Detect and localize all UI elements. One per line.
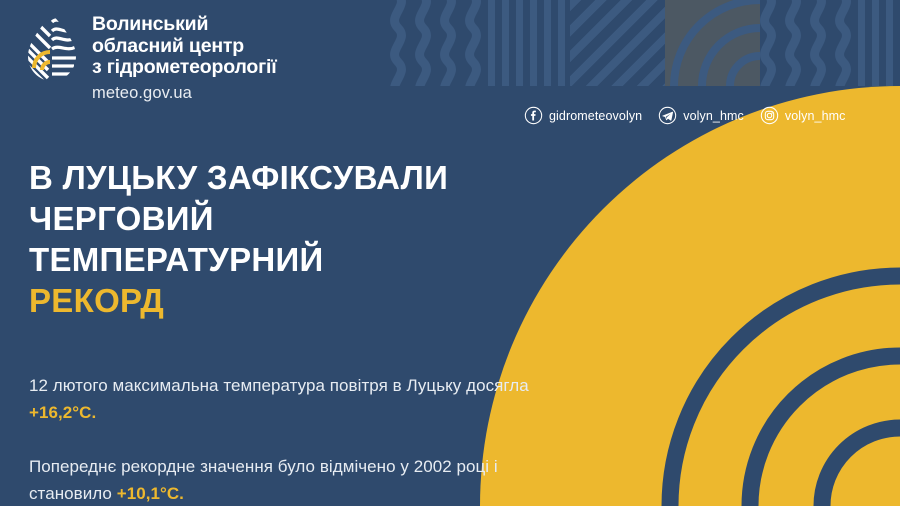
logo-line-3: з гідрометеорології xyxy=(92,57,277,79)
pattern-panel-waves xyxy=(390,0,488,86)
social-links: gidrometeovolyn volyn_hmc volyn_hmc xyxy=(524,106,846,125)
temperature-value-current: +16,2°C. xyxy=(29,403,96,422)
pattern-panel-concentric-arcs xyxy=(665,0,760,86)
logo-line-1: Волинський xyxy=(92,14,277,36)
facebook-handle: gidrometeovolyn xyxy=(549,109,642,123)
social-link-telegram[interactable]: volyn_hmc xyxy=(658,106,744,125)
poster-canvas: Волинський обласний центр з гідрометеоро… xyxy=(0,0,900,506)
headline: В ЛУЦЬКУ ЗАФІКСУВАЛИ ЧЕРГОВИЙ ТЕМПЕРАТУР… xyxy=(29,157,448,321)
headline-line-1: В ЛУЦЬКУ ЗАФІКСУВАЛИ xyxy=(29,157,448,198)
instagram-icon xyxy=(760,106,779,125)
paragraph-2-text: Попереднє рекордне значення було відміче… xyxy=(29,457,498,503)
logo-line-2: обласний центр xyxy=(92,36,277,58)
pattern-panel-vertical-stripes xyxy=(488,0,570,86)
pattern-panel-waves-2 xyxy=(760,0,858,86)
temperature-value-previous: +10,1°C. xyxy=(117,484,184,503)
logo[interactable]: Волинський обласний центр з гідрометеоро… xyxy=(26,12,277,103)
pattern-panel-vertical-stripes-2 xyxy=(858,0,900,86)
social-link-instagram[interactable]: volyn_hmc xyxy=(760,106,846,125)
logo-website-url[interactable]: meteo.gov.ua xyxy=(92,83,277,103)
instagram-handle: volyn_hmc xyxy=(785,109,846,123)
concentric-arcs-icon xyxy=(665,0,760,86)
decorative-pattern-strip xyxy=(390,0,900,86)
facebook-icon xyxy=(524,106,543,125)
headline-line-4-record: РЕКОРД xyxy=(29,280,448,321)
paragraph-previous-record: Попереднє рекордне значення було відміче… xyxy=(29,453,549,506)
paragraph-1-text: 12 лютого максимальна температура повітр… xyxy=(29,376,529,395)
headline-line-3: ТЕМПЕРАТУРНИЙ xyxy=(29,239,448,280)
body-copy: 12 лютого максимальна температура повітр… xyxy=(29,355,549,506)
pattern-panel-diagonal-stripes xyxy=(570,0,665,86)
headline-line-2: ЧЕРГОВИЙ xyxy=(29,198,448,239)
paragraph-current-record: 12 лютого максимальна температура повітр… xyxy=(29,372,549,426)
social-link-facebook[interactable]: gidrometeovolyn xyxy=(524,106,642,125)
logo-text: Волинський обласний центр з гідрометеоро… xyxy=(92,12,277,103)
telegram-handle: volyn_hmc xyxy=(683,109,744,123)
waves-icon-2 xyxy=(760,0,858,86)
water-droplet-leaf-logo-icon xyxy=(26,12,78,84)
telegram-icon xyxy=(658,106,677,125)
waves-icon xyxy=(390,0,488,86)
